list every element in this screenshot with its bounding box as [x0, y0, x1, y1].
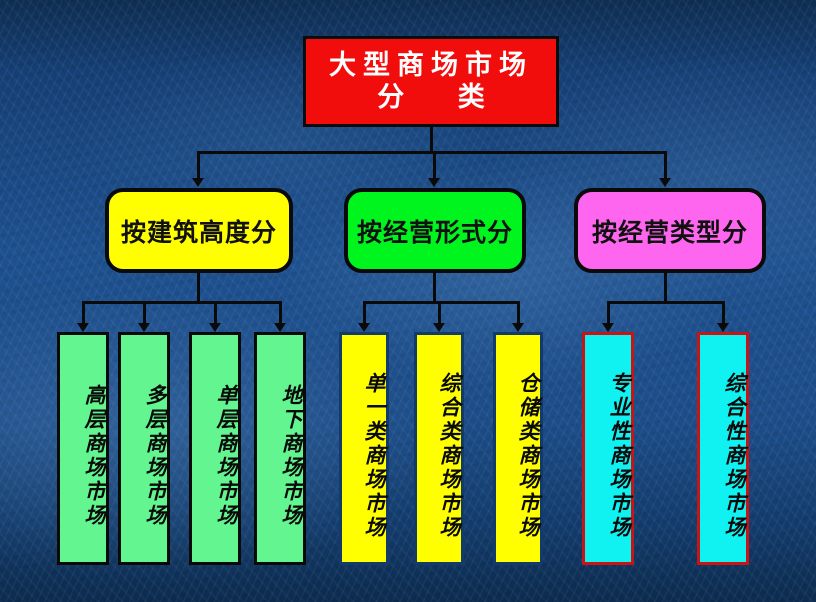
arrow-leaf-5	[358, 323, 370, 332]
category-label-building-height: 按建筑高度分	[121, 213, 277, 249]
connector-level1-bus	[197, 151, 666, 154]
leaf-box-single-category[interactable]: 单一类商场市场	[339, 332, 389, 565]
arrow-leaf-7	[512, 323, 524, 332]
leaf-label-specialized: 专业性商场市场	[607, 372, 631, 540]
connector-bus-branch-1	[82, 301, 282, 304]
connector-bus-branch-3	[607, 301, 725, 304]
leaf-box-single-storey[interactable]: 单层商场市场	[189, 332, 241, 565]
connector-drop-leaf-7	[517, 301, 520, 324]
leaf-label-multi-storey: 多层商场市场	[143, 384, 167, 528]
category-box-building-height[interactable]: 按建筑高度分	[105, 188, 293, 273]
category-label-operation-type: 按经营类型分	[592, 213, 748, 249]
slide-canvas: 大型商场市场 分 类 按建筑高度分 按经营形式分 按经营类型分 高层商场市场 多…	[0, 0, 816, 602]
connector-bus-branch-2	[363, 301, 520, 304]
title-box: 大型商场市场 分 类	[303, 36, 559, 127]
arrow-cat-1	[192, 178, 204, 187]
leaf-label-underground: 地下商场市场	[279, 384, 303, 528]
category-box-operation-form[interactable]: 按经营形式分	[344, 188, 526, 273]
connector-drop-leaf-2	[143, 301, 146, 324]
arrow-leaf-2	[138, 323, 150, 332]
connector-drop-leaf-4	[279, 301, 282, 324]
arrow-leaf-8	[602, 323, 614, 332]
leaf-box-comprehensive[interactable]: 综合性商场市场	[697, 332, 749, 565]
connector-drop-cat-1	[197, 151, 200, 179]
leaf-label-warehouse-category: 仓储类商场市场	[516, 372, 540, 540]
arrow-cat-3	[659, 178, 671, 187]
connector-stem-branch-1	[197, 273, 200, 303]
arrow-leaf-1	[77, 323, 89, 332]
connector-drop-cat-2	[433, 151, 436, 179]
arrow-cat-2	[428, 178, 440, 187]
connector-drop-leaf-6	[438, 301, 441, 324]
leaf-box-underground[interactable]: 地下商场市场	[254, 332, 306, 565]
leaf-label-high-rise: 高层商场市场	[82, 384, 106, 528]
arrow-leaf-6	[433, 323, 445, 332]
category-box-operation-type[interactable]: 按经营类型分	[574, 188, 766, 273]
leaf-box-multi-storey[interactable]: 多层商场市场	[118, 332, 170, 565]
leaf-box-warehouse-category[interactable]: 仓储类商场市场	[493, 332, 543, 565]
leaf-label-single-storey: 单层商场市场	[214, 384, 238, 528]
leaf-label-comprehensive-category: 综合类商场市场	[437, 372, 461, 540]
connector-drop-leaf-3	[214, 301, 217, 324]
connector-drop-leaf-5	[363, 301, 366, 324]
connector-drop-leaf-8	[607, 301, 610, 324]
leaf-label-single-category: 单一类商场市场	[362, 372, 386, 540]
title-line-1: 大型商场市场	[329, 50, 533, 82]
leaf-box-high-rise[interactable]: 高层商场市场	[57, 332, 109, 565]
title-line-2: 分 类	[355, 82, 506, 114]
connector-trunk-vertical	[430, 127, 433, 153]
connector-drop-cat-3	[664, 151, 667, 179]
arrow-leaf-3	[209, 323, 221, 332]
connector-stem-branch-3	[664, 273, 667, 303]
arrow-leaf-9	[717, 323, 729, 332]
connector-drop-leaf-1	[82, 301, 85, 324]
leaf-box-comprehensive-category[interactable]: 综合类商场市场	[414, 332, 464, 565]
category-label-operation-form: 按经营形式分	[357, 213, 513, 249]
connector-drop-leaf-9	[722, 301, 725, 324]
connector-stem-branch-2	[433, 273, 436, 303]
arrow-leaf-4	[274, 323, 286, 332]
leaf-label-comprehensive: 综合性商场市场	[722, 372, 746, 540]
leaf-box-specialized[interactable]: 专业性商场市场	[582, 332, 634, 565]
